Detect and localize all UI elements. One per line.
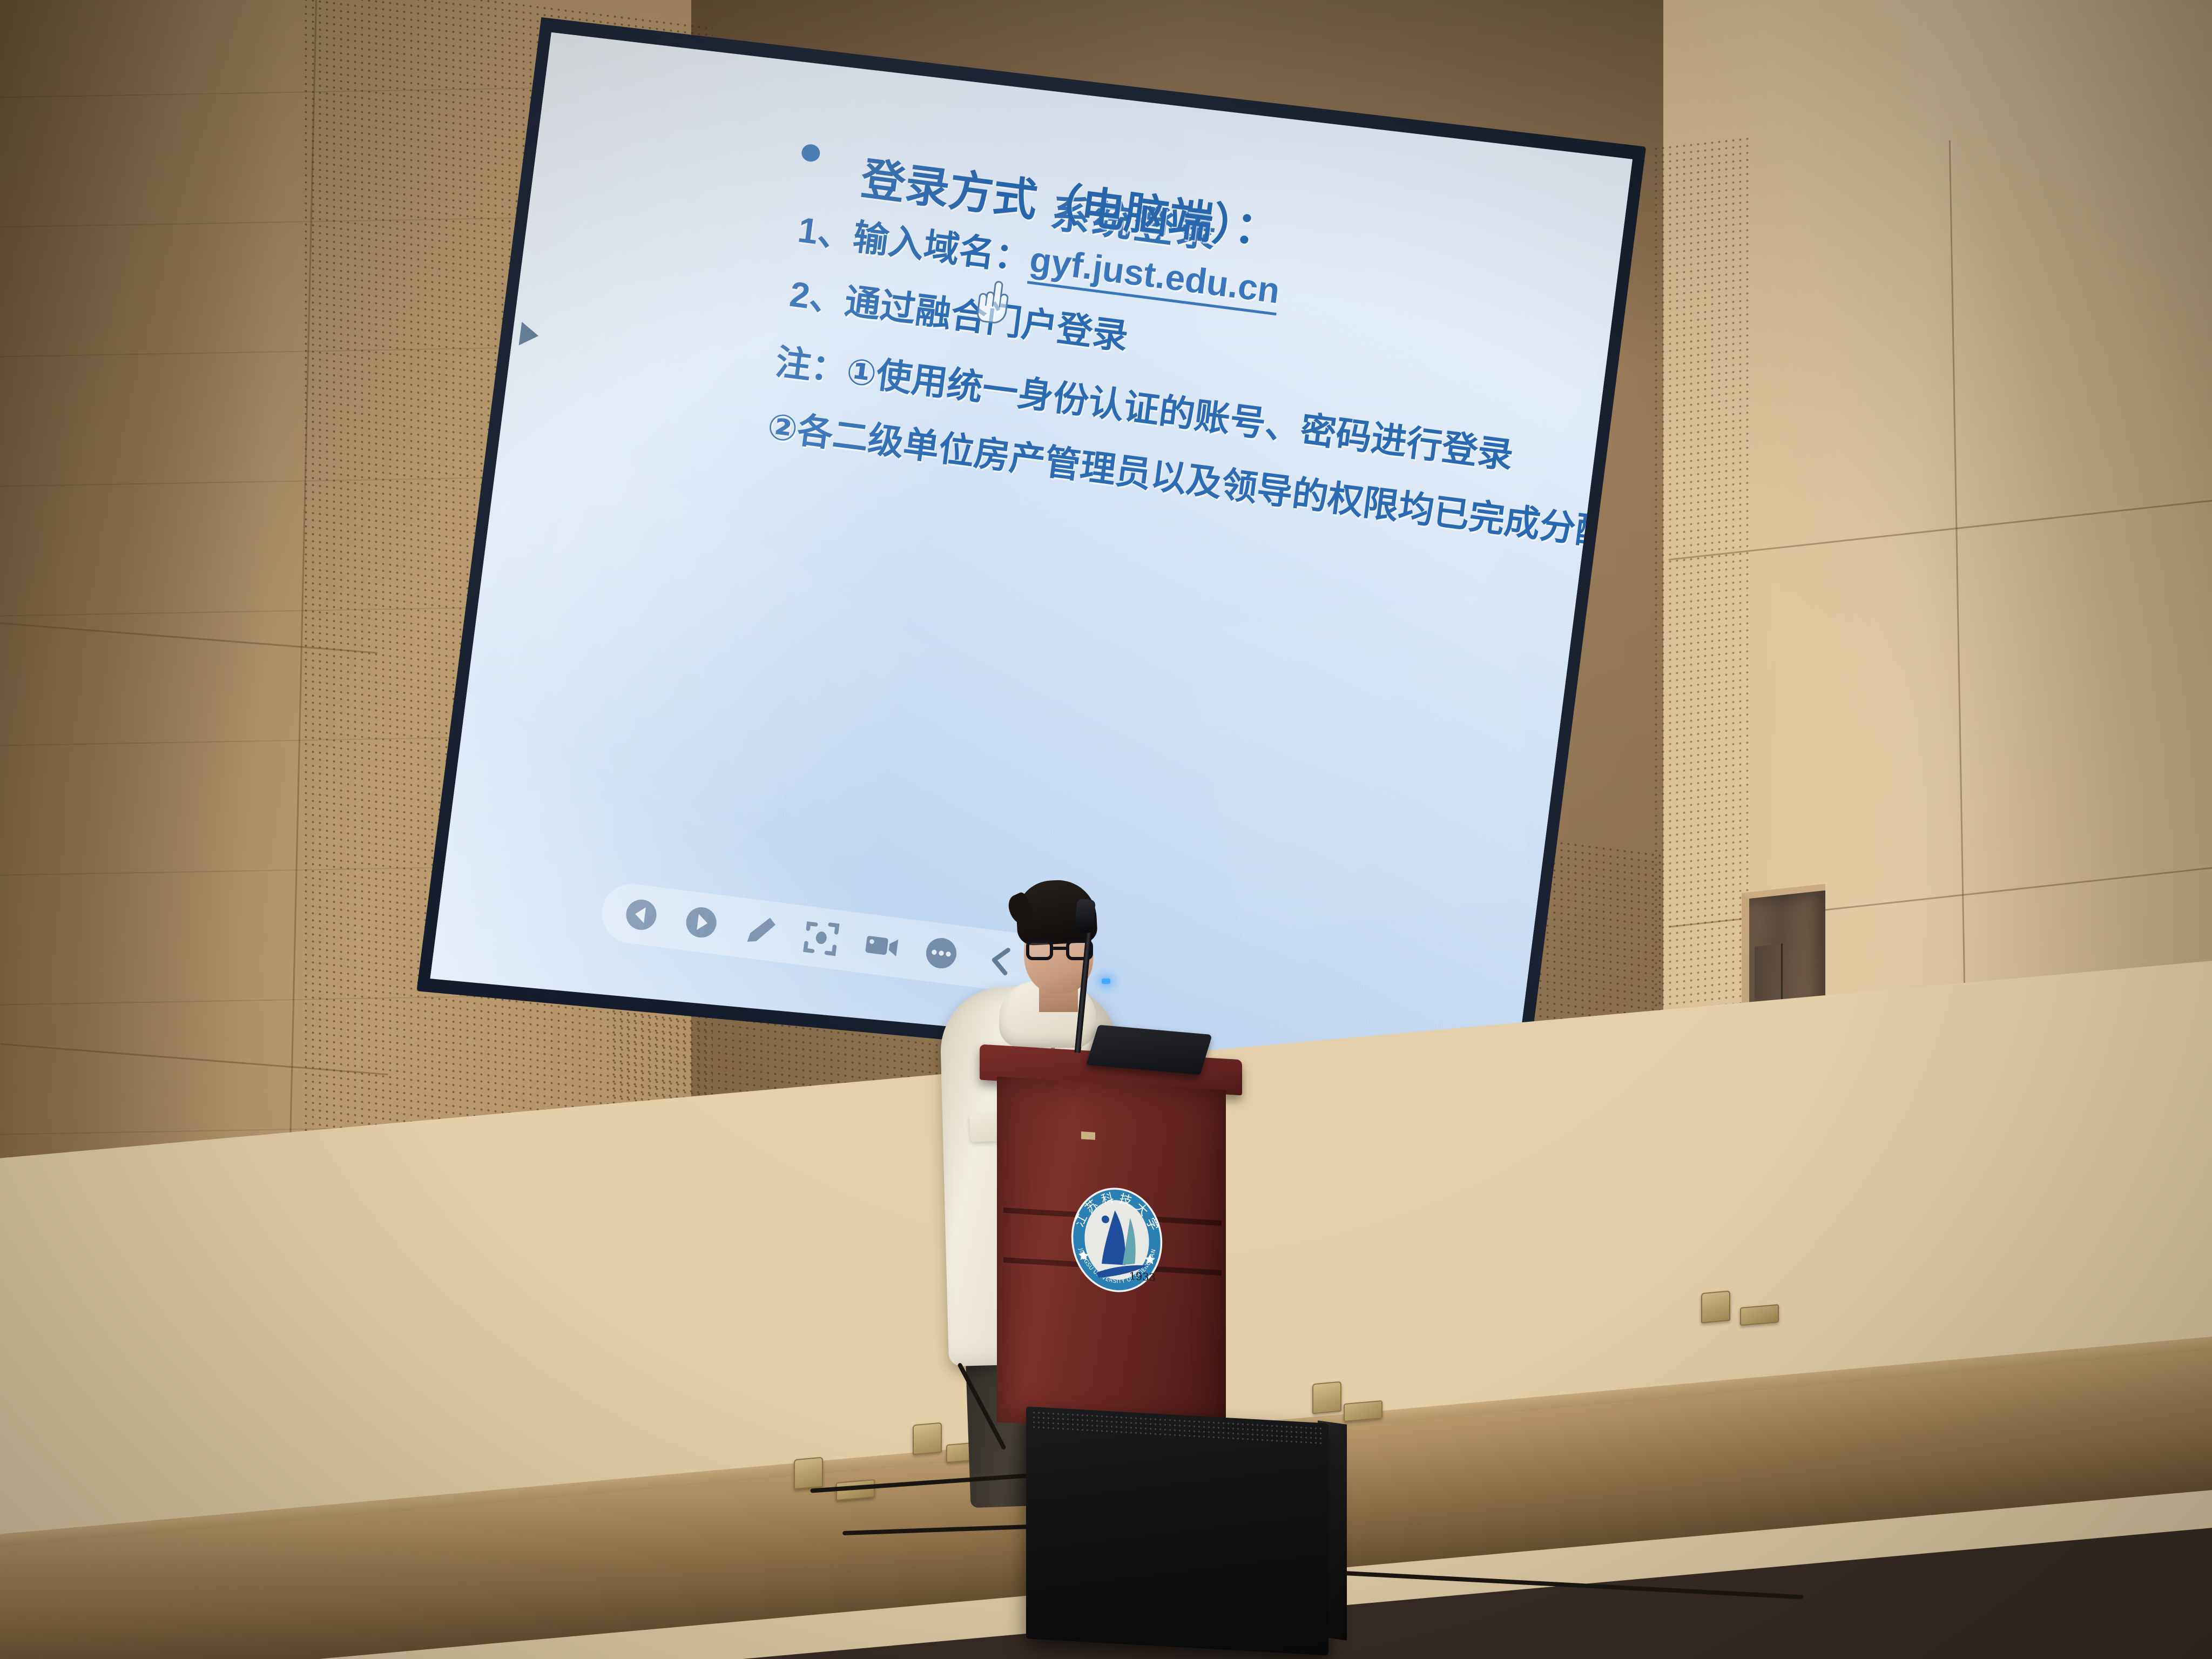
auditorium-scene: 系统登录 登录方式（电脑端）： 1、输入域名：gyf.just.edu.cn 2…	[0, 0, 2212, 1659]
spotlight-button[interactable]	[801, 918, 841, 958]
microphone-status-led	[1102, 979, 1110, 984]
podium-asset-tag	[1081, 1131, 1095, 1140]
annotate-pen-button[interactable]	[741, 910, 781, 950]
stage-monitor-speaker	[1026, 1415, 1328, 1647]
floor-outlet-box	[794, 1457, 823, 1490]
university-emblem: 江 苏 科 技 大 学 JIANGSU UNIVERSITY OF SCIENC…	[1069, 1183, 1164, 1297]
slide-edge-arrow-marker	[519, 322, 540, 348]
emblem-year: 1933	[1129, 1270, 1156, 1284]
glasses-bridge	[1053, 947, 1067, 950]
microphone-head	[1074, 898, 1096, 933]
lectern-podium: 江 苏 科 技 大 学 JIANGSU UNIVERSITY OF SCIENC…	[1000, 1052, 1227, 1452]
floor-outlet-box	[1701, 1291, 1730, 1324]
next-slide-button[interactable]	[682, 902, 721, 942]
glasses-lens-left	[1026, 940, 1053, 960]
bullet-dot-icon	[800, 143, 821, 163]
floor-outlet-box	[1740, 1304, 1779, 1326]
floor-outlet-box	[1312, 1381, 1341, 1414]
record-video-button[interactable]	[861, 926, 901, 966]
floor-outlet-box	[1344, 1400, 1382, 1422]
previous-slide-button[interactable]	[622, 895, 662, 935]
speaker-front-face	[1026, 1406, 1328, 1655]
